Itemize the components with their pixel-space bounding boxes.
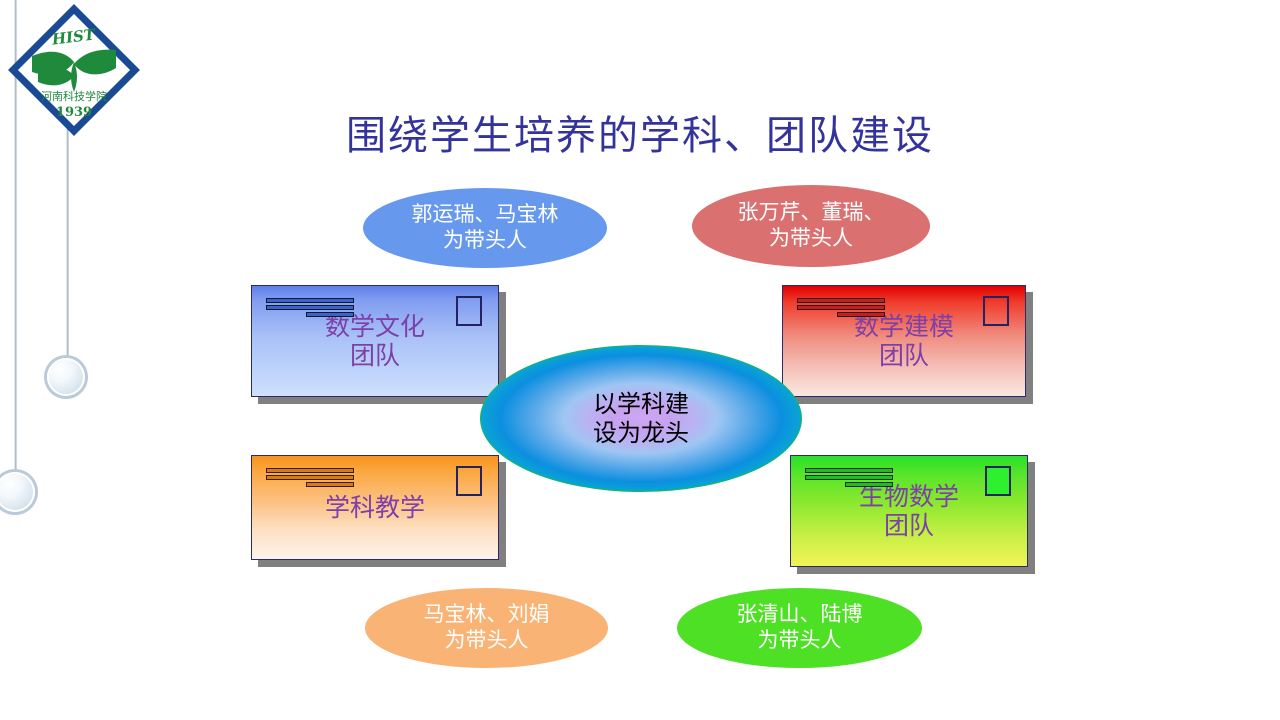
callout-blue-leaders: 郭运瑞、马宝林 为带头人: [363, 188, 607, 268]
card-line-2: 团队: [350, 341, 400, 371]
center-line-2: 设为龙头: [593, 419, 689, 448]
envelope-stamp-icon: [985, 466, 1011, 496]
hist-logo-icon: HIST 河南科技学院 1939: [8, 4, 140, 136]
card-line-2: 团队: [884, 511, 934, 541]
hist-logo: HIST 河南科技学院 1939: [8, 4, 140, 136]
card-line-2: 团队: [879, 341, 929, 371]
callout-line-1: 马宝林、刘娟: [424, 602, 550, 628]
callout-green-leaders: 张清山、陆博 为带头人: [677, 588, 922, 668]
center-line-1: 以学科建: [593, 390, 689, 419]
callout-orange-leaders: 马宝林、刘娟 为带头人: [365, 588, 608, 668]
envelope-address-lines: [805, 468, 893, 489]
envelope-stamp-icon: [456, 466, 482, 496]
callout-line-1: 张清山、陆博: [737, 602, 863, 628]
card-line-1: 学科教学: [325, 493, 425, 523]
envelope-address-lines: [266, 468, 354, 489]
center-hub-ellipse: 以学科建 设为龙头: [480, 345, 802, 492]
svg-text:河南科技学院: 河南科技学院: [41, 89, 107, 103]
slide-canvas: HIST 河南科技学院 1939 围绕学生培养的学科、团队建设 郭运瑞、马宝林 …: [0, 0, 1280, 720]
card-math-modeling-team[interactable]: 数学建模 团队: [782, 285, 1026, 397]
envelope-address-lines: [797, 298, 885, 319]
card-subject-teaching[interactable]: 学科教学: [251, 455, 499, 560]
card-math-culture-team[interactable]: 数学文化 团队: [251, 285, 499, 397]
pendulum-ball-lower: [0, 472, 35, 512]
envelope-stamp-icon: [456, 296, 482, 326]
envelope-address-lines: [266, 298, 354, 319]
page-title: 围绕学生培养的学科、团队建设: [300, 103, 980, 161]
callout-line-2: 为带头人: [758, 628, 842, 654]
callout-line-2: 为带头人: [443, 228, 527, 254]
callout-red-leaders: 张万芹、董瑞、 为带头人: [692, 185, 930, 267]
svg-text:1939: 1939: [56, 105, 92, 120]
envelope-stamp-icon: [983, 296, 1009, 326]
callout-line-1: 郭运瑞、马宝林: [412, 202, 559, 228]
pendulum-ball-upper: [47, 358, 85, 396]
callout-line-2: 为带头人: [769, 226, 853, 252]
callout-line-2: 为带头人: [445, 628, 529, 654]
callout-line-1: 张万芹、董瑞、: [738, 200, 885, 226]
card-biomath-team[interactable]: 生物数学 团队: [790, 455, 1028, 567]
